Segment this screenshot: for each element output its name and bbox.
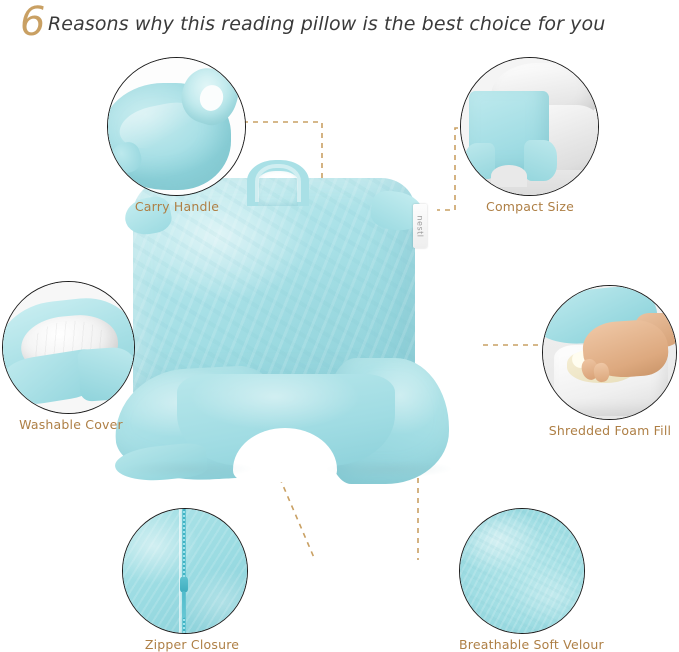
pillow-carry-handle-highlight [255, 164, 301, 202]
pillow-shadow-right [325, 460, 453, 478]
feature-washable-cover: Washable Cover [2, 281, 140, 441]
pillow-shadow-left [123, 460, 253, 478]
zipper-closure-image [122, 508, 248, 634]
breathable-soft-velour-image [459, 508, 585, 634]
washable-cover-image [2, 281, 135, 414]
feature-carry-handle: Carry Handle [107, 57, 247, 222]
washable-cover-label: Washable Cover [2, 417, 140, 432]
carry-handle-image [107, 57, 246, 196]
reasons-count: 6 [20, 2, 45, 42]
carry-handle-label: Carry Handle [107, 199, 247, 214]
feature-shredded-foam-fill: Shredded Foam Fill [542, 285, 678, 445]
feature-zipper-closure: Zipper Closure [122, 508, 262, 652]
shredded-foam-fill-image [542, 285, 677, 420]
feature-breathable-soft-velour: Breathable Soft Velour [459, 508, 599, 652]
header: 6 Reasons why this reading pillow is the… [0, 0, 679, 48]
brand-tag-label: nestl [413, 204, 427, 248]
zipper-closure-label: Zipper Closure [122, 637, 262, 652]
feature-compact-size: Compact Size [460, 57, 600, 222]
compact-size-label: Compact Size [460, 199, 600, 214]
compact-size-image [460, 57, 599, 196]
infographic-canvas: 6 Reasons why this reading pillow is the… [0, 0, 679, 652]
shredded-foam-fill-label: Shredded Foam Fill [542, 423, 678, 438]
breathable-soft-velour-label: Breathable Soft Velour [459, 637, 599, 652]
page-title: Reasons why this reading pillow is the b… [48, 13, 605, 35]
